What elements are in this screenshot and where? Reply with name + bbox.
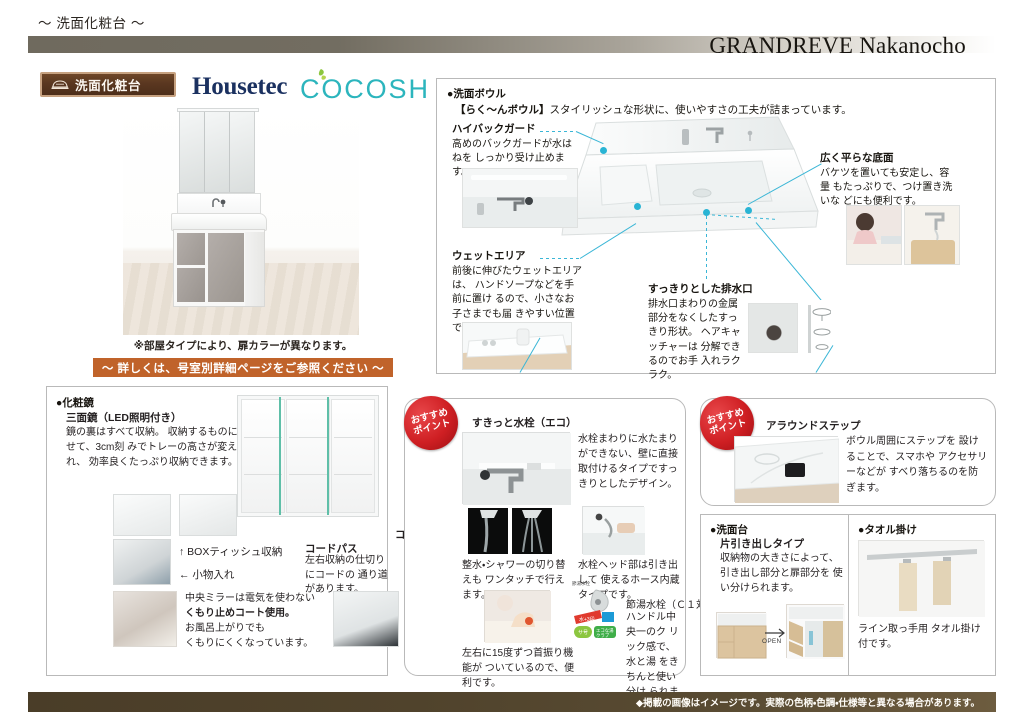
footer-disclaimer: ◆掲載の画像はイメージです。実際の色柄・色調・仕様等と異なる場合があります。 [636, 695, 996, 709]
svg-text:サ号: サ号 [578, 630, 588, 636]
wash-bowl-illustration [556, 115, 826, 263]
catalog-page: ～ 洗面化粧台 ～ GRANDREVE Nakanocho 洗面化粧台 Hous… [0, 0, 1024, 724]
product-category-label: 洗面化粧台 [75, 75, 141, 94]
mirror-panel-title: ●化粧鏡 [56, 395, 94, 410]
photo-towel-rail [858, 540, 984, 616]
photo-open-mirror-cabinet [237, 395, 379, 517]
photo-small-items-tray [113, 539, 171, 585]
callout-wetarea-title: ウェットエリア [452, 248, 584, 263]
callout-drain-text: 排水口まわりの金属 部分をなくしたすっ きり形状。 ヘアキャッチャーは 分解でき… [648, 298, 744, 383]
product-category-badge: 洗面化粧台 [40, 72, 176, 97]
vanity-type-subtitle: 片引き出しタイプ [720, 536, 804, 551]
photo-hair-catcher-parts [804, 300, 832, 356]
photo-flat-bottom-1 [846, 205, 902, 265]
photo-shower-stream [512, 508, 552, 554]
hero-cabinet [173, 229, 265, 307]
footer-bar: ◆掲載の画像はイメージです。実際の色柄・色調・仕様等と異なる場合があります。 [28, 692, 996, 712]
photo-water-stream [468, 508, 508, 554]
photo-tray-2 [179, 494, 237, 536]
antifog-line1: 中央ミラーは電気を使わない [185, 593, 315, 604]
around-step-title: アラウンドステップ [766, 418, 861, 433]
faucet-icon [209, 197, 233, 209]
dot-wetarea [634, 203, 641, 210]
vanity-type-text: 収納物の大きさによって、 引き出し部分と扉部分を 使い分けられます。 [720, 551, 844, 596]
eco-faucet-badge-icon: 水+3段 サ号 エコな湯 クラブ [572, 586, 624, 642]
swivel-caption: 左右に15度ずつ首振り機能が ついているので、便利です。 [462, 646, 578, 691]
page-title: GRANDREVE Nakanocho [709, 33, 966, 59]
reference-banner[interactable]: ～ 詳しくは、号室別詳細ページをご参照ください ～ [93, 358, 393, 377]
photo-pullout-head [582, 506, 644, 554]
mirror-cabinet-panel: ●化粧鏡 三面鏡（LED照明付き） 鏡の裏はすべて収納。 収納するものに合わせて… [46, 386, 388, 676]
label-box-tissue: ↑ BOXティッシュ収納 [179, 544, 282, 559]
antifog-strong: くもり止めコート使用。 [185, 608, 295, 619]
cocosh-logo: COCOSH [300, 74, 430, 105]
open-label: OPEN [762, 638, 781, 645]
callout-flat-bottom-text: バケツを置いても安定し、容量 もたっぷりで、つけ置き洗いな どにも便利です。 [820, 167, 957, 210]
photo-cabinet-interior [333, 591, 399, 647]
mirror-panel-body: 鏡の裏はすべて収納。 収納するものに合わせて、3cm刻 みでトレーの高さが変えら… [66, 425, 261, 470]
dot-hibackguard [600, 147, 607, 154]
photo-drain [748, 303, 798, 353]
around-step-text: ボウル周囲にステップを 設けることで、スマホや アクセサリーなどが すべり落ちる… [846, 434, 988, 496]
photo-wetarea [462, 322, 572, 370]
photo-around-step [734, 436, 838, 502]
cabinet-edge-right [327, 397, 329, 515]
cabinet-edge-left [279, 397, 281, 515]
antifog-text: 中央ミラーは電気を使わない くもり止めコート使用。 お風呂上がりでも くもりにく… [185, 591, 325, 651]
callout-drain-title: すっきりとした排水口 [648, 281, 744, 296]
photo-flat-bottom-2 [904, 205, 960, 265]
dot-drain [703, 209, 710, 216]
antifog-line3: くもりにくくなっています。 [185, 638, 313, 649]
callout-flat-bottom: 広く平らな底面 バケツを置いても安定し、容量 もたっぷりで、つけ置き洗いな どに… [820, 150, 957, 210]
hero-photo-note: ※部屋タイプにより、扉カラーが異なります。 [123, 338, 363, 353]
faucet-panel-text: 水栓まわりに水たまり ができない、壁に直接 取付けるタイプですっ きりとしたデザ… [578, 432, 678, 492]
page-kicker: ～ 洗面化粧台 ～ [38, 12, 145, 32]
bowl-name-strong: 【らく～んボウル】 [455, 104, 550, 116]
label-small-items: ← 小物入れ [179, 567, 234, 582]
housetec-logo: Housetec [192, 73, 287, 101]
leader-drain-vert [706, 216, 707, 280]
photo-vanity-closed [716, 612, 766, 658]
dot-flat-bottom [745, 207, 752, 214]
photo-wall-faucet [462, 432, 570, 504]
photo-swivel-use [484, 590, 550, 642]
mirror-panel-subtitle: 三面鏡（LED照明付き） [66, 410, 182, 425]
wash-bowl-panel-title: ●洗面ボウル [447, 86, 506, 101]
svg-text:水+3段: 水+3段 [579, 616, 595, 623]
antifog-line2: お風呂上がりでも [185, 623, 265, 634]
vanity-hero-photo [123, 103, 359, 335]
callout-drain: すっきりとした排水口 排水口まわりの金属 部分をなくしたすっ きり形状。 ヘアキ… [648, 281, 744, 383]
arrow-right-icon [764, 628, 788, 638]
callout-flat-bottom-title: 広く平らな底面 [820, 150, 957, 165]
photo-antifog-mirror [113, 591, 177, 647]
callout-hibackguard-title: ハイバックガード [452, 121, 577, 136]
photo-vanity-open [786, 604, 844, 658]
photo-tray-1 [113, 494, 171, 536]
vanity-icon [50, 78, 70, 92]
faucet-panel-title: すきっと水栓（エコ） [472, 415, 577, 430]
hero-mirror-cabinet [179, 111, 255, 193]
towel-rail-text: ライン取っ手用 タオル掛け付です。 [858, 622, 982, 652]
vanity-type-title: ●洗面台 [710, 522, 748, 537]
towel-rail-title: ●タオル掛け [858, 522, 917, 537]
photo-hibackguard [462, 168, 578, 228]
svg-text:クラブ: クラブ [596, 632, 610, 639]
panel-divider [848, 514, 849, 676]
